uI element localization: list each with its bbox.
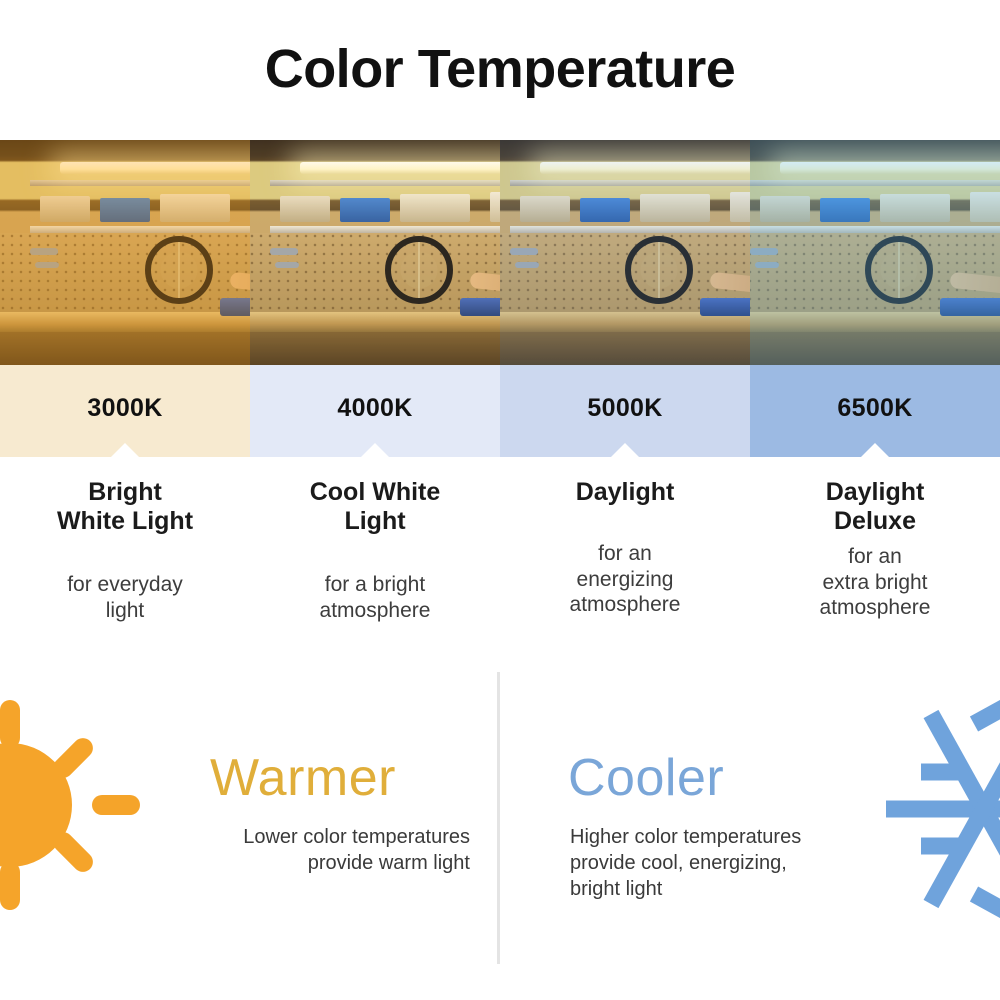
workshop-scene bbox=[0, 140, 250, 365]
photo-panel-4 bbox=[750, 140, 1000, 365]
temperature-cell-3000k: 3000K bbox=[0, 365, 250, 457]
description-name: Daylight bbox=[512, 478, 738, 507]
description-row: Bright White Light for everyday light Co… bbox=[0, 478, 1000, 623]
temperature-label: 6500K bbox=[837, 394, 912, 423]
pointer-notch-icon bbox=[110, 443, 140, 458]
cooler-heading: Cooler bbox=[568, 748, 724, 808]
description-subtitle: for an extra bright atmosphere bbox=[762, 544, 988, 621]
description-name: Bright White Light bbox=[12, 478, 238, 536]
workshop-scene bbox=[250, 140, 500, 365]
page-title: Color Temperature bbox=[0, 38, 1000, 100]
temperature-label: 5000K bbox=[587, 394, 662, 423]
description-column-6500k: Daylight Deluxe for an extra bright atmo… bbox=[750, 478, 1000, 623]
infographic-root: Color Temperature bbox=[0, 0, 1000, 1000]
temperature-band: 3000K 4000K 5000K 6500K bbox=[0, 365, 1000, 457]
description-subtitle: for everyday light bbox=[12, 572, 238, 623]
temperature-cell-5000k: 5000K bbox=[500, 365, 750, 457]
sun-icon bbox=[0, 700, 172, 910]
description-column-5000k: Daylight for an energizing atmosphere bbox=[500, 478, 750, 623]
cooler-description: Higher color temperatures provide cool, … bbox=[570, 824, 900, 902]
description-name: Daylight Deluxe bbox=[762, 478, 988, 536]
warmer-description: Lower color temperatures provide warm li… bbox=[160, 824, 470, 876]
pointer-notch-icon bbox=[360, 443, 390, 458]
description-name: Cool White Light bbox=[262, 478, 488, 536]
description-subtitle: for an energizing atmosphere bbox=[512, 541, 738, 618]
description-subtitle: for a bright atmosphere bbox=[262, 572, 488, 623]
temperature-label: 4000K bbox=[337, 394, 412, 423]
pointer-notch-icon bbox=[610, 443, 640, 458]
section-divider bbox=[497, 672, 500, 964]
pointer-notch-icon bbox=[860, 443, 890, 458]
photo-strip bbox=[0, 140, 1000, 365]
warmer-heading: Warmer bbox=[210, 748, 396, 808]
temperature-cell-4000k: 4000K bbox=[250, 365, 500, 457]
photo-panel-1 bbox=[0, 140, 250, 365]
description-column-4000k: Cool White Light for a bright atmosphere bbox=[250, 478, 500, 623]
photo-panel-3 bbox=[500, 140, 750, 365]
description-column-3000k: Bright White Light for everyday light bbox=[0, 478, 250, 623]
temperature-cell-6500k: 6500K bbox=[750, 365, 1000, 457]
photo-panel-2 bbox=[250, 140, 500, 365]
snowflake-icon bbox=[866, 694, 1000, 924]
workshop-scene bbox=[500, 140, 750, 365]
temperature-label: 3000K bbox=[87, 394, 162, 423]
workshop-scene bbox=[750, 140, 1000, 365]
